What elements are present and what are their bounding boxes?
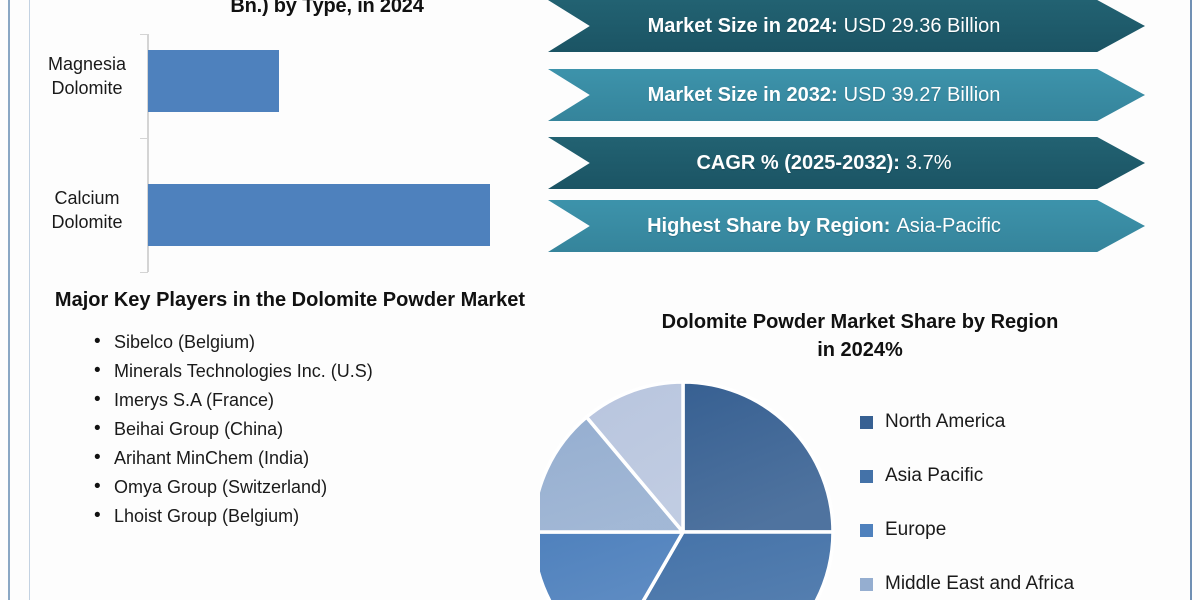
bar-magnesia-dolomite	[148, 50, 279, 112]
legend-item-europe[interactable]: Europe	[860, 503, 1074, 557]
pie-chart-panel: Dolomite Powder Market Share by Region i…	[540, 300, 1200, 600]
banner-value: USD 29.36 Billion	[844, 15, 1001, 38]
list-item: Arihant MinChem (India)	[92, 444, 550, 473]
banner-key: CAGR % (2025-2032):	[696, 152, 899, 175]
bar-chart-title: Bn.) by Type, in 2024	[142, 0, 512, 18]
banner-key: Highest Share by Region:	[647, 215, 890, 238]
banner-value: USD 39.27 Billion	[844, 84, 1001, 107]
legend-swatch-icon	[860, 416, 873, 429]
pie-slice-north-america[interactable]	[683, 382, 833, 532]
legend-label: Europe	[885, 519, 946, 541]
highlight-banner-stack: Market Size in 2024: USD 29.36 Billion M…	[548, 0, 1148, 258]
banner-key: Market Size in 2024:	[648, 15, 838, 38]
banner-highest-share-region[interactable]: Highest Share by Region: Asia-Pacific	[548, 200, 1145, 252]
axis-tick	[140, 34, 148, 35]
key-players-title: Major Key Players in the Dolomite Powder…	[50, 286, 530, 314]
legend-swatch-icon	[860, 470, 873, 483]
list-item: Sibelco (Belgium)	[92, 328, 550, 357]
legend-label: Asia Pacific	[885, 465, 983, 487]
banner-market-size-2032[interactable]: Market Size in 2032: USD 39.27 Billion	[548, 69, 1145, 121]
bar-category-label-line2: Dolomite	[51, 212, 122, 232]
axis-tick	[140, 138, 148, 139]
legend-item-middle-east-africa[interactable]: Middle East and Africa	[860, 557, 1074, 600]
list-item: Omya Group (Switzerland)	[92, 473, 550, 502]
legend-swatch-icon	[860, 524, 873, 537]
list-item: Imerys S.A (France)	[92, 386, 550, 415]
bar-calcium-dolomite	[148, 184, 490, 246]
list-item: Beihai Group (China)	[92, 415, 550, 444]
banner-key: Market Size in 2032:	[648, 84, 838, 107]
list-item: Minerals Technologies Inc. (U.S)	[92, 357, 550, 386]
banner-market-size-2024[interactable]: Market Size in 2024: USD 29.36 Billion	[548, 0, 1145, 52]
key-players-list: Sibelco (Belgium) Minerals Technologies …	[92, 328, 550, 531]
pie-chart-graphic	[540, 360, 860, 600]
bar-chart-panel: Bn.) by Type, in 2024 Magnesia Dolomite …	[32, 0, 532, 272]
banner-value: 3.7%	[906, 152, 952, 175]
list-item: Lhoist Group (Belgium)	[92, 502, 550, 531]
banner-value: Asia-Pacific	[896, 215, 1000, 238]
pie-chart-title-line2: in 2024%	[817, 339, 903, 361]
pie-chart-title: Dolomite Powder Market Share by Region i…	[580, 308, 1140, 364]
legend-item-north-america[interactable]: North America	[860, 395, 1074, 449]
legend-swatch-icon	[860, 578, 873, 591]
legend-label: Middle East and Africa	[885, 573, 1074, 595]
infographic-canvas: Bn.) by Type, in 2024 Magnesia Dolomite …	[0, 0, 1200, 600]
pie-chart-title-line1: Dolomite Powder Market Share by Region	[662, 311, 1059, 333]
legend-label: North America	[885, 411, 1005, 433]
bar-category-label-line1: Calcium	[54, 188, 119, 208]
legend-item-asia-pacific[interactable]: Asia Pacific	[860, 449, 1074, 503]
bar-category-label: Magnesia Dolomite Magnesia Dolomite	[32, 52, 142, 100]
bar-category-label-line2: Dolomite	[51, 78, 122, 98]
frame-border-left	[8, 0, 10, 600]
pie-chart-legend: North America Asia Pacific Europe Middle…	[860, 395, 1074, 600]
bar-category-label: Calcium Dolomite	[32, 186, 142, 234]
banner-cagr[interactable]: CAGR % (2025-2032): 3.7%	[548, 137, 1145, 189]
key-players-panel: Major Key Players in the Dolomite Powder…	[30, 282, 550, 600]
bar-category-label-line1: Magnesia	[48, 54, 126, 74]
axis-tick	[140, 272, 148, 273]
